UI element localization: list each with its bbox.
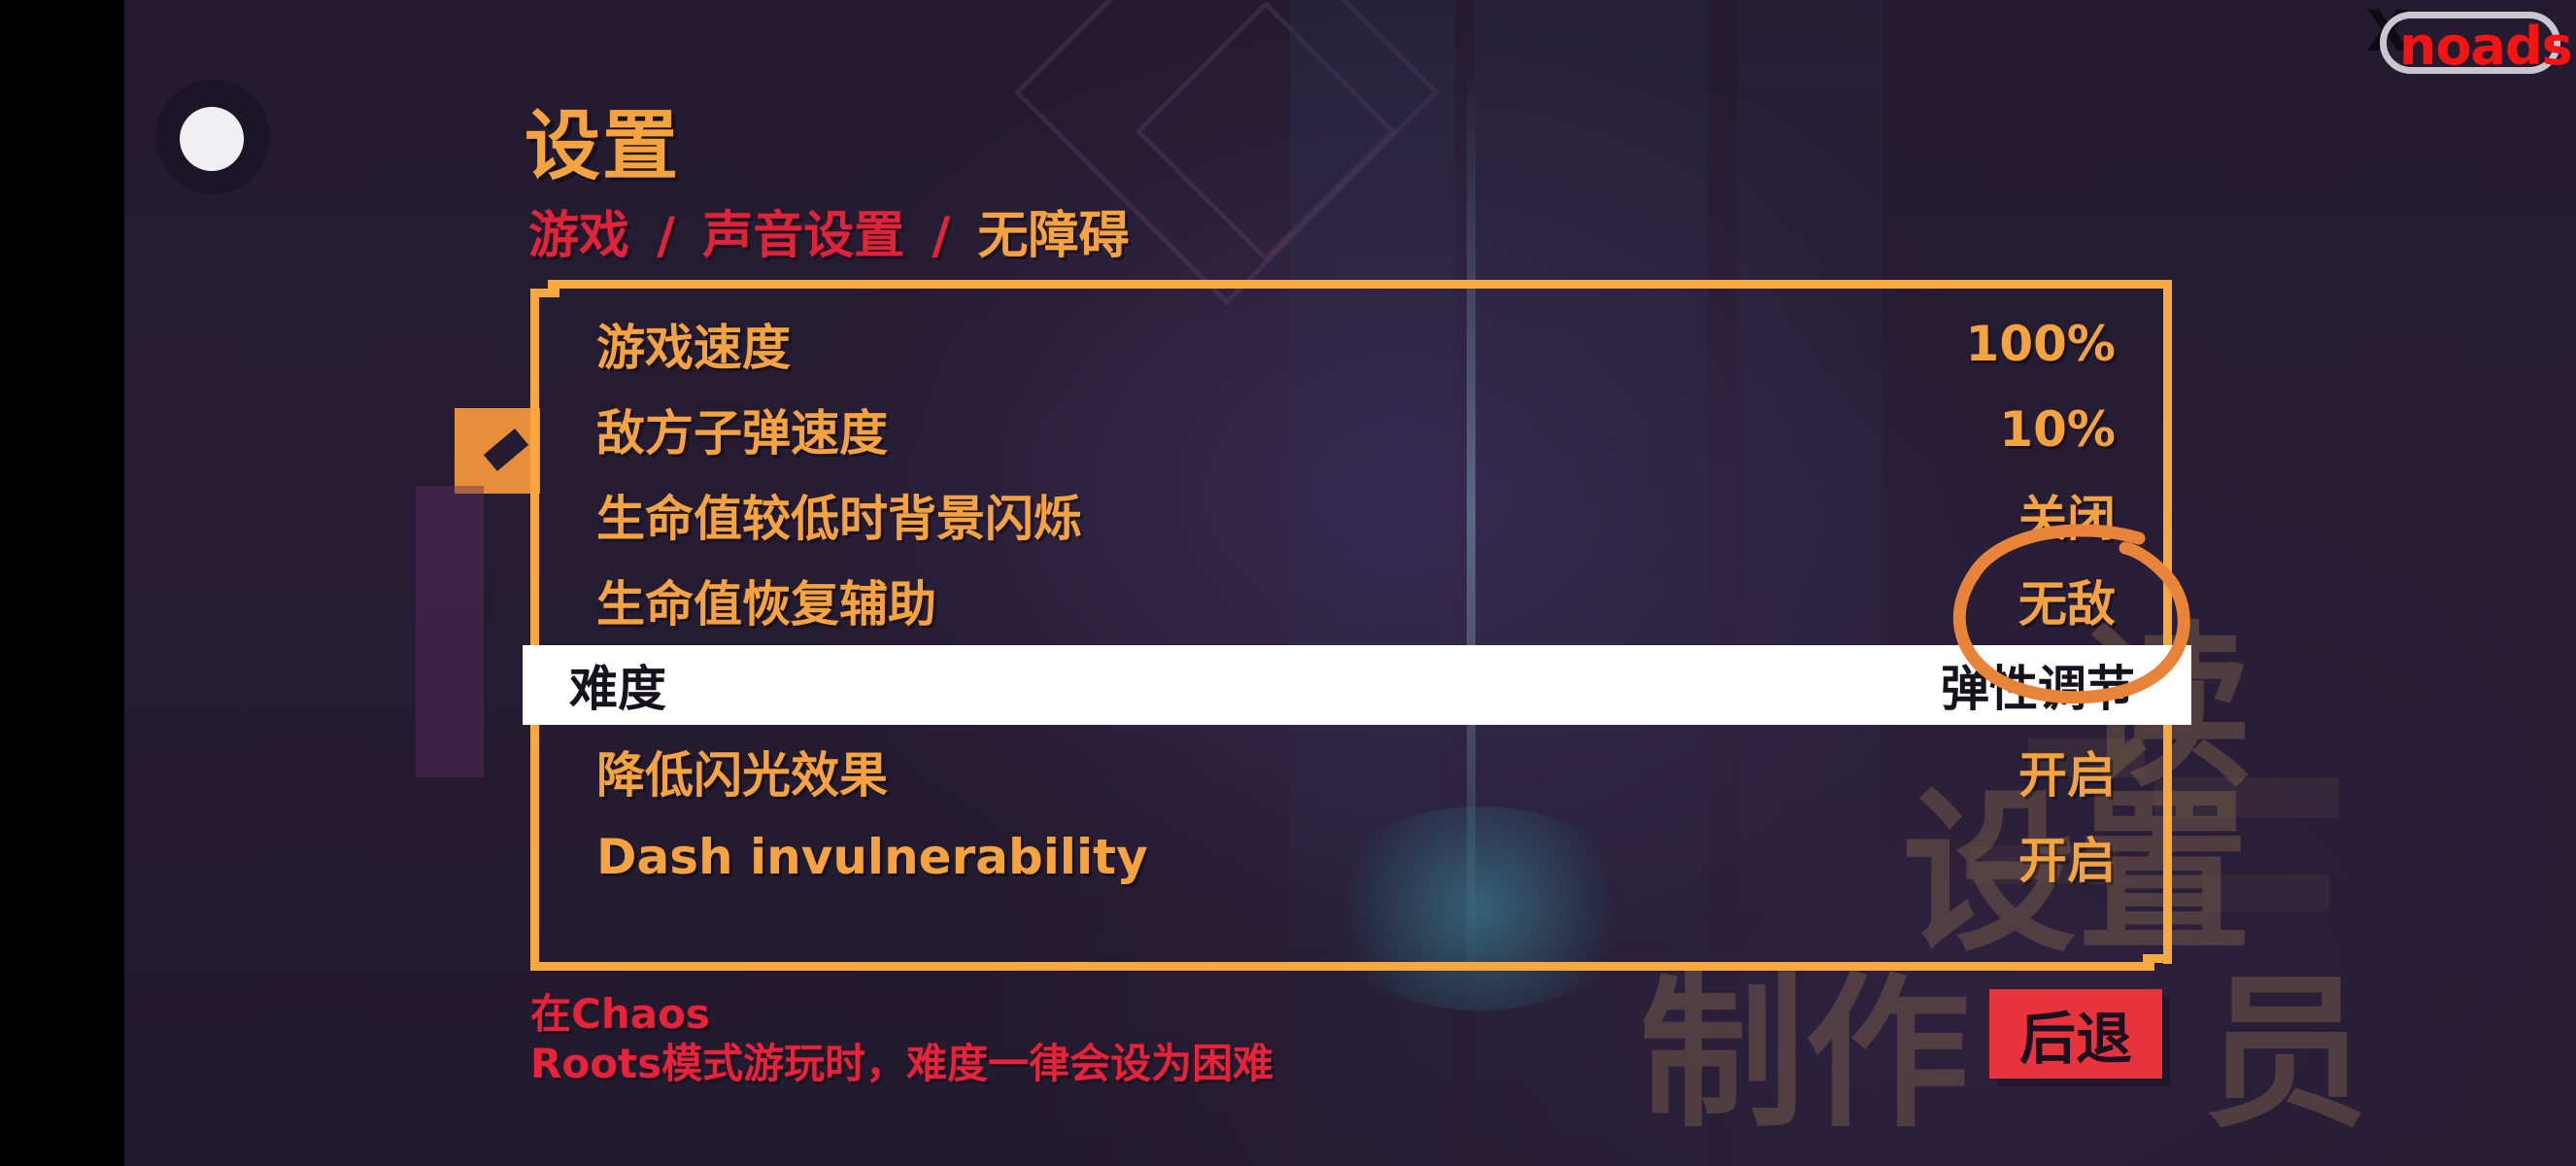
settings-row-value: 开启 [2018,737,2116,806]
settings-row-label: 生命值较低时背景闪烁 [596,480,1082,550]
settings-row-value: 开启 [2018,822,2116,892]
settings-row-label: 游戏速度 [596,309,791,379]
breadcrumb-item-game[interactable]: 游戏 [528,194,629,267]
breadcrumb-item-audio[interactable]: 声音设置 [702,194,904,267]
bg-glyph-6: 员 [2203,972,2368,1137]
cursor-dot[interactable] [180,107,244,171]
settings-row-value: 弹性调节 [1941,650,2135,720]
settings-row-value: 100% [1966,316,2116,372]
settings-row-label: 降低闪光效果 [596,737,888,806]
breadcrumb-item-accessibility[interactable]: 无障碍 [977,194,1129,267]
settings-row-label: Dash invulnerability [596,829,1148,885]
settings-row-health-regen-assist[interactable]: 生命值恢复辅助 无敌 [530,560,2172,641]
breadcrumb-separator-2: / [922,207,960,265]
panel-border-bottom-notch [2143,954,2172,963]
settings-row-label: 敌方子弹速度 [596,394,888,464]
settings-panel: 游戏速度 100% 敌方子弹速度 10% 生命值较低时背景闪烁 关闭 生命值恢复… [530,280,2172,976]
panel-border-bottom [530,962,2154,971]
game-screen: 读 置 设 制 作 员 设置 游戏 / 声音设置 / 无障碍 游戏速度 [0,0,2576,1166]
breadcrumb: 游戏 / 声音设置 / 无障碍 [528,194,1129,267]
settings-row-value: 10% [1999,401,2116,458]
left-letterbox-bar [0,0,124,1166]
page-title: 设置 [525,86,680,194]
settings-row-enemy-bullet-speed[interactable]: 敌方子弹速度 10% [530,389,2172,470]
settings-row-value: 关闭 [2018,480,2116,550]
back-button[interactable]: 后退 [1989,989,2162,1079]
panel-border-top [548,280,2172,289]
bg-glyph-5: 作 [1805,972,1970,1137]
footer-note: 在Chaos Roots模式游玩时，难度一律会设为困难 [530,989,1273,1088]
settings-row-reduce-flashing[interactable]: 降低闪光效果 开启 [530,731,2172,812]
settings-row-dash-invulnerability[interactable]: Dash invulnerability 开启 [530,816,2172,898]
settings-row-game-speed[interactable]: 游戏速度 100% [530,303,2172,385]
settings-row-label: 难度 [569,650,666,720]
settings-row-low-health-flash[interactable]: 生命值较低时背景闪烁 关闭 [530,474,2172,556]
bg-violet-shape [416,486,484,777]
settings-row-difficulty[interactable]: 难度 弹性调节 [523,645,2191,725]
bg-glyph-4: 制 [1640,972,1805,1137]
ad-watermark: X noads [2360,4,2564,82]
settings-row-label: 生命值恢复辅助 [596,566,936,635]
watermark-label[interactable]: noads [2399,16,2572,77]
footer-note-line-2: Roots模式游玩时，难度一律会设为困难 [530,1039,1273,1088]
settings-row-value: 无敌 [2018,566,2116,635]
breadcrumb-separator-1: / [647,207,685,265]
footer-note-line-1: 在Chaos [530,989,1273,1039]
